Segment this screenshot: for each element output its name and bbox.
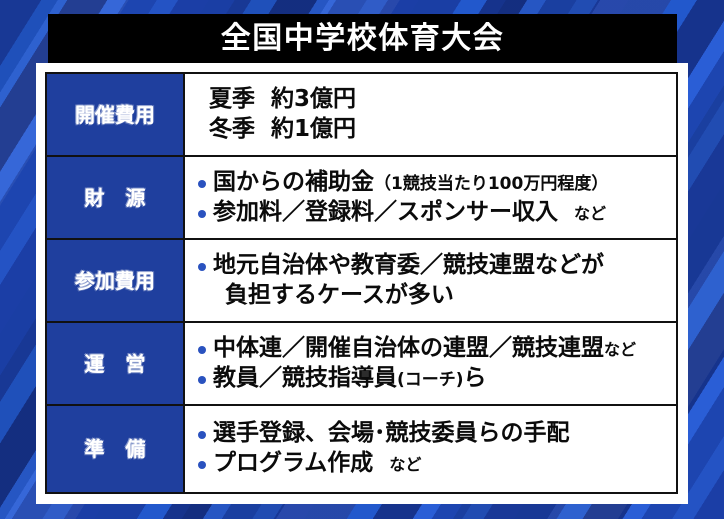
content-line: 夏季 約3億円 <box>197 85 666 115</box>
content-line: 選手登録、会場･競技委員らの手配 <box>197 419 666 449</box>
line-main-text: 冬季 <box>209 115 255 145</box>
row-label: 運 営 <box>78 354 153 374</box>
content-line: 参加料／登録料／スポンサー収入 など <box>197 198 666 228</box>
page-title: 全国中学校体育大会 <box>221 24 505 54</box>
content-line: 中体連／開催自治体の連盟／競技連盟 など <box>197 334 666 364</box>
info-table: 開催費用 夏季 約3億円 冬季 約1億円 <box>45 72 678 494</box>
row-label-cell: 運 営 <box>47 323 185 404</box>
table-row: 財 源 国からの補助金 （1競技当たり100万円程度） 参加料／登録料／スポンサ… <box>47 157 676 240</box>
row-label: 開催費用 <box>75 105 155 125</box>
row-label-cell: 準 備 <box>47 406 185 492</box>
row-content-cell: 地元自治体や教育委／競技連盟などが 負担するケースが多い <box>185 240 676 321</box>
line-main-text: 負担するケースが多い <box>225 281 454 311</box>
line-main-text: 教員／競技指導員 <box>213 364 397 394</box>
line-suffix-text: など <box>389 455 421 476</box>
line-tail-text: ら <box>464 364 487 394</box>
line-main-text: 参加料／登録料／スポンサー収入 <box>213 198 558 228</box>
content-line: 国からの補助金 （1競技当たり100万円程度） <box>197 168 666 198</box>
title-banner: 全国中学校体育大会 <box>48 14 677 63</box>
content-line: 冬季 約1億円 <box>197 115 666 145</box>
line-main-text: 地元自治体や教育委／競技連盟などが <box>213 251 604 281</box>
content-line: 負担するケースが多い <box>197 281 666 311</box>
row-content-cell: 国からの補助金 （1競技当たり100万円程度） 参加料／登録料／スポンサー収入 … <box>185 157 676 238</box>
line-note-text: (コーチ) <box>397 369 464 391</box>
row-label: 財 源 <box>78 188 153 208</box>
content-line: プログラム作成 など <box>197 449 666 479</box>
row-label-cell: 参加費用 <box>47 240 185 321</box>
line-main-text: 夏季 <box>209 85 255 115</box>
row-label-cell: 財 源 <box>47 157 185 238</box>
line-note-text: （1競技当たり100万円程度） <box>374 173 608 195</box>
line-tail-text: 約3億円 <box>271 85 356 115</box>
table-row: 運 営 中体連／開催自治体の連盟／競技連盟 など 教員／競技指導員 (コーチ) … <box>47 323 676 406</box>
infographic-root: 全国中学校体育大会 開催費用 夏季 約3億円 冬季 約1億 <box>0 0 724 519</box>
line-main-text: 選手登録、会場･競技委員らの手配 <box>213 419 570 449</box>
line-main-text: プログラム作成 <box>213 449 373 479</box>
row-label: 参加費用 <box>75 271 155 291</box>
row-content-cell: 中体連／開催自治体の連盟／競技連盟 など 教員／競技指導員 (コーチ) ら <box>185 323 676 404</box>
row-content-cell: 選手登録、会場･競技委員らの手配 プログラム作成 など <box>185 406 676 492</box>
content-line: 教員／競技指導員 (コーチ) ら <box>197 364 666 394</box>
table-row: 開催費用 夏季 約3億円 冬季 約1億円 <box>47 74 676 157</box>
table-row: 参加費用 地元自治体や教育委／競技連盟などが 負担するケースが多い <box>47 240 676 323</box>
table-card: 開催費用 夏季 約3億円 冬季 約1億円 <box>36 63 688 504</box>
line-main-text: 中体連／開催自治体の連盟／競技連盟 <box>213 334 604 364</box>
line-suffix-text: など <box>604 340 636 361</box>
row-label: 準 備 <box>78 439 153 459</box>
table-row: 準 備 選手登録、会場･競技委員らの手配 プログラム作成 など <box>47 406 676 492</box>
line-tail-text: 約1億円 <box>271 115 356 145</box>
line-suffix-text: など <box>574 204 606 225</box>
row-content-cell: 夏季 約3億円 冬季 約1億円 <box>185 74 676 155</box>
content-line: 地元自治体や教育委／競技連盟などが <box>197 251 666 281</box>
row-label-cell: 開催費用 <box>47 74 185 155</box>
line-main-text: 国からの補助金 <box>213 168 374 198</box>
